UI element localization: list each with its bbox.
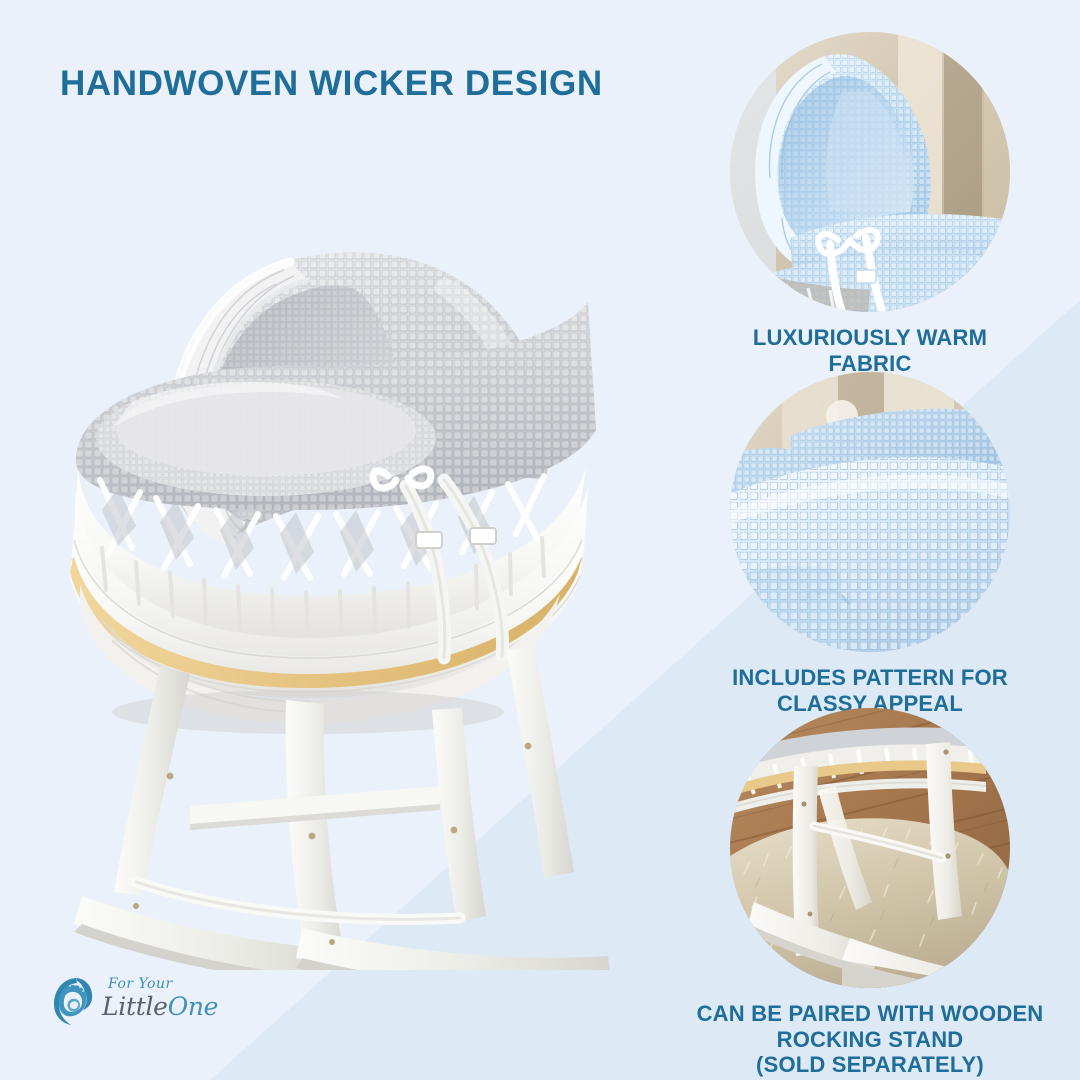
blue-waffle-texture-closeup-photo [730, 372, 1010, 652]
feature-caption: CAN BE PAIRED WITH WOODEN ROCKING STAND … [660, 1001, 1080, 1078]
logo-word-little: Little [102, 992, 168, 1021]
caption-line: (SOLD SEPARATELY) [660, 1052, 1080, 1078]
caption-line: LUXURIOUSLY WARM [660, 325, 1080, 351]
feature-rocking-stand: CAN BE PAIRED WITH WOODEN ROCKING STAND … [660, 708, 1080, 1078]
page-title: HANDWOVEN WICKER DESIGN [60, 64, 603, 104]
hero-product-image [40, 180, 660, 970]
feature-warm-fabric: LUXURIOUSLY WARM FABRIC [660, 32, 1080, 376]
caption-line: CAN BE PAIRED WITH WOODEN [660, 1001, 1080, 1027]
mother-and-baby-icon [52, 975, 96, 1027]
caption-line: INCLUDES PATTERN FOR [660, 665, 1080, 691]
product-infographic: HANDWOVEN WICKER DESIGN [0, 0, 1080, 1080]
feature-pattern: INCLUDES PATTERN FOR CLASSY APPEAL [660, 372, 1080, 716]
feature-column: LUXURIOUSLY WARM FABRIC [660, 20, 1080, 1080]
caption-line: ROCKING STAND [660, 1027, 1080, 1053]
logo-wordmark: For Your LittleOne [102, 974, 224, 1028]
logo-line-for-your: For Your [108, 976, 173, 992]
blue-waffle-hood-basket-photo [730, 32, 1010, 312]
logo-word-one: One [168, 992, 219, 1021]
feature-caption: LUXURIOUSLY WARM FABRIC [660, 325, 1080, 376]
white-rocking-stand-on-rug-photo [730, 708, 1010, 988]
infographic-content: HANDWOVEN WICKER DESIGN [0, 0, 1080, 1080]
for-your-little-one-logo: For Your LittleOne [52, 968, 232, 1034]
logo-line-little-one: LittleOne [102, 992, 218, 1021]
